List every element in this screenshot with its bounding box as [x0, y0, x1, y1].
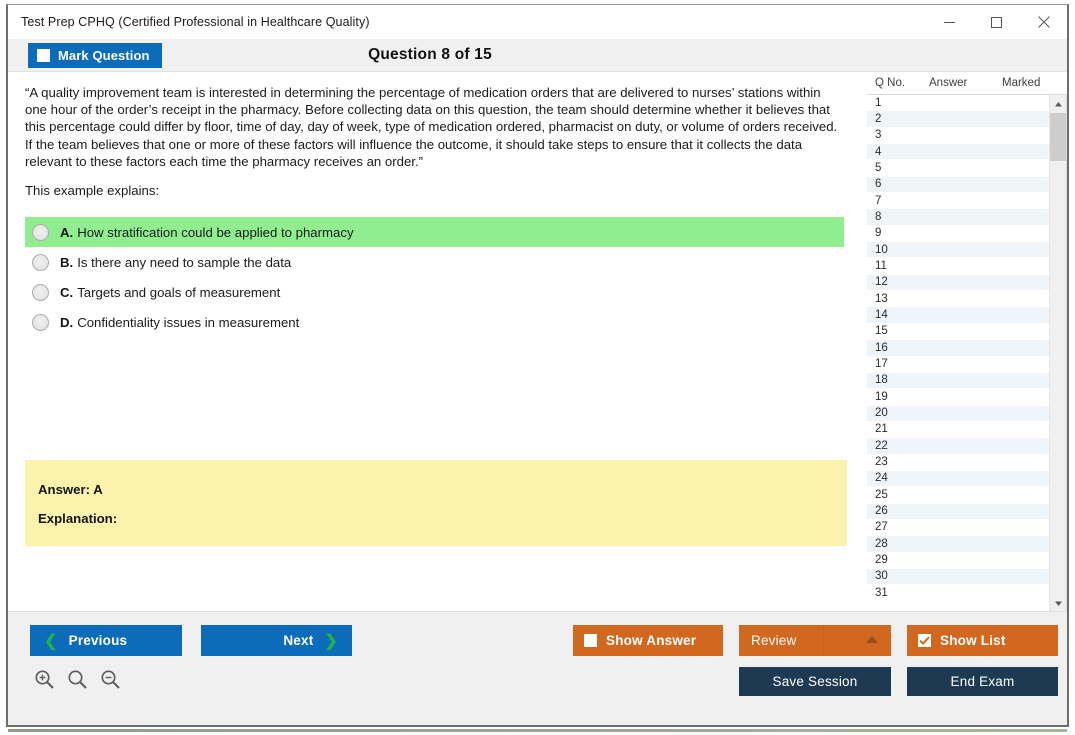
answer-option-c[interactable]: C.Targets and goals of measurement: [25, 277, 844, 307]
question-list-row-number: 13: [875, 293, 888, 305]
scrollbar-down-button[interactable]: [1050, 594, 1067, 611]
question-list-row[interactable]: 9: [867, 226, 1050, 242]
question-list-row[interactable]: 5: [867, 160, 1050, 176]
question-list-row-number: 30: [875, 570, 888, 582]
next-button[interactable]: Next ❯: [201, 625, 352, 656]
question-list-row[interactable]: 21: [867, 422, 1050, 438]
question-list-row-number: 22: [875, 440, 888, 452]
toolbar: Mark Question Question 8 of 15: [8, 39, 1067, 72]
question-list-row-number: 21: [875, 423, 888, 435]
option-letter: C.: [60, 285, 73, 300]
question-list-row-number: 14: [875, 309, 888, 321]
review-label: Review: [751, 633, 796, 648]
close-icon: [1037, 15, 1051, 29]
question-list-row[interactable]: 2: [867, 111, 1050, 127]
zoom-out-button[interactable]: [98, 667, 122, 691]
show-answer-checkbox[interactable]: [584, 634, 597, 647]
question-list-header: Q No. Answer Marked: [867, 72, 1067, 95]
end-exam-button[interactable]: End Exam: [907, 667, 1058, 696]
maximize-icon: [990, 16, 1003, 29]
question-list-row-number: 25: [875, 489, 888, 501]
question-list-row-number: 5: [875, 162, 881, 174]
scrollbar-thumb[interactable]: [1050, 113, 1067, 161]
question-list-row-number: 4: [875, 146, 881, 158]
question-list-row-number: 12: [875, 276, 888, 288]
question-list-row[interactable]: 3: [867, 128, 1050, 144]
option-text: How stratification could be applied to p…: [77, 225, 353, 240]
answer-label: Answer: A: [38, 482, 103, 497]
next-label: Next: [283, 633, 313, 648]
question-list-row[interactable]: 6: [867, 177, 1050, 193]
question-list-row[interactable]: 19: [867, 389, 1050, 405]
question-list-row-number: 27: [875, 521, 888, 533]
question-list-row[interactable]: 20: [867, 406, 1050, 422]
window-bottom-accent: [8, 729, 1067, 732]
option-text: Is there any need to sample the data: [77, 255, 291, 270]
option-text: Targets and goals of measurement: [77, 285, 280, 300]
question-list-row[interactable]: 27: [867, 520, 1050, 536]
answer-option-a[interactable]: A.How stratification could be applied to…: [25, 217, 844, 247]
question-list-row[interactable]: 31: [867, 585, 1050, 601]
question-list-row[interactable]: 24: [867, 471, 1050, 487]
option-letter: D.: [60, 315, 73, 330]
zoom-in-button[interactable]: [32, 667, 56, 691]
answer-options-list: A.How stratification could be applied to…: [8, 217, 858, 337]
question-list-row-number: 16: [875, 342, 888, 354]
option-letter: A.: [60, 225, 73, 240]
question-list-row-number: 7: [875, 195, 881, 207]
previous-button[interactable]: ❮ Previous: [30, 625, 182, 656]
review-dropdown[interactable]: Review: [739, 625, 891, 656]
question-list-row-number: 23: [875, 456, 888, 468]
question-list-row-number: 10: [875, 244, 888, 256]
maximize-button[interactable]: [973, 5, 1020, 39]
minimize-button[interactable]: [926, 5, 973, 39]
window-controls: [926, 5, 1067, 39]
column-header-marked: Marked: [1002, 77, 1040, 89]
window-title: Test Prep CPHQ (Certified Professional i…: [8, 15, 370, 29]
question-list-row[interactable]: 12: [867, 275, 1050, 291]
answer-explanation-panel: Answer: A Explanation:: [25, 460, 847, 546]
question-list-scrollbar[interactable]: [1049, 95, 1066, 611]
chevron-up-icon: [1054, 95, 1063, 113]
question-list-row[interactable]: 10: [867, 242, 1050, 258]
show-answer-button[interactable]: Show Answer: [573, 625, 723, 656]
option-text: Confidentiality issues in measurement: [77, 315, 299, 330]
question-list-row[interactable]: 15: [867, 324, 1050, 340]
question-list-pane: Q No. Answer Marked 12345678910111213141…: [867, 72, 1067, 611]
zoom-reset-button[interactable]: [65, 667, 89, 691]
question-list-row-number: 3: [875, 129, 881, 141]
review-divider: [823, 625, 824, 656]
question-list-row[interactable]: 14: [867, 307, 1050, 323]
question-list-row[interactable]: 26: [867, 504, 1050, 520]
previous-label: Previous: [69, 633, 128, 648]
question-list-row-number: 15: [875, 325, 888, 337]
exam-window: Test Prep CPHQ (Certified Professional i…: [6, 4, 1069, 727]
question-list-row-number: 11: [875, 260, 887, 272]
chevron-up-icon[interactable]: [866, 636, 878, 643]
question-list-row[interactable]: 4: [867, 144, 1050, 160]
question-list-row[interactable]: 18: [867, 373, 1050, 389]
question-list-row[interactable]: 28: [867, 536, 1050, 552]
question-list-row-number: 24: [875, 472, 888, 484]
title-bar: Test Prep CPHQ (Certified Professional i…: [8, 5, 1067, 39]
zoom-controls: [32, 667, 122, 691]
question-list-scroll-area[interactable]: 1234567891011121314151617181920212223242…: [867, 95, 1067, 611]
zoom-reset-icon: [67, 669, 88, 690]
question-list-row-number: 26: [875, 505, 888, 517]
show-list-label: Show List: [940, 633, 1006, 648]
question-lead-in: This example explains:: [25, 183, 842, 198]
main-content: “A quality improvement team is intereste…: [8, 72, 1067, 611]
close-button[interactable]: [1020, 5, 1067, 39]
question-list-row[interactable]: 29: [867, 553, 1050, 569]
question-list-row[interactable]: 30: [867, 569, 1050, 585]
question-list-row-number: 19: [875, 391, 888, 403]
show-list-checkbox[interactable]: [918, 634, 931, 647]
column-header-answer: Answer: [929, 77, 967, 89]
question-list-row-number: 8: [875, 211, 881, 223]
scrollbar-up-button[interactable]: [1050, 95, 1067, 112]
question-counter: Question 8 of 15: [8, 46, 1067, 64]
question-list-row[interactable]: 8: [867, 209, 1050, 225]
chevron-left-icon: ❮: [44, 631, 58, 651]
question-list-row-number: 29: [875, 554, 888, 566]
question-list-row[interactable]: 17: [867, 357, 1050, 373]
footer-toolbar: ❮ Previous Next ❯ Show Answer Review Sho…: [8, 611, 1067, 725]
option-letter: B.: [60, 255, 73, 270]
chevron-right-icon: ❯: [324, 631, 338, 651]
end-exam-label: End Exam: [951, 674, 1015, 689]
question-list-row-number: 31: [875, 587, 888, 599]
question-body-text: “A quality improvement team is intereste…: [25, 84, 842, 170]
zoom-in-icon: [34, 669, 55, 690]
explanation-label: Explanation:: [38, 511, 117, 526]
answer-option-d[interactable]: D.Confidentiality issues in measurement: [25, 307, 844, 337]
column-header-qno: Q No.: [875, 77, 905, 89]
save-session-button[interactable]: Save Session: [739, 667, 891, 696]
question-list-row[interactable]: 7: [867, 193, 1050, 209]
question-list-row-number: 17: [875, 358, 888, 370]
question-list-row-number: 6: [875, 178, 881, 190]
question-list-row[interactable]: 22: [867, 438, 1050, 454]
minimize-icon: [943, 16, 956, 29]
question-list-row-number: 28: [875, 538, 888, 550]
question-list-row-number: 2: [875, 113, 881, 125]
question-list-row-number: 20: [875, 407, 888, 419]
question-list-rows: 1234567891011121314151617181920212223242…: [867, 95, 1050, 602]
question-list-row[interactable]: 1: [867, 95, 1050, 111]
question-list-row-number: 9: [875, 227, 881, 239]
option-radio[interactable]: [32, 224, 49, 241]
question-list-row[interactable]: 11: [867, 258, 1050, 274]
question-list-row[interactable]: 25: [867, 487, 1050, 503]
question-list-row[interactable]: 16: [867, 340, 1050, 356]
show-answer-label: Show Answer: [606, 633, 696, 648]
question-list-row[interactable]: 13: [867, 291, 1050, 307]
question-pane: “A quality improvement team is intereste…: [8, 72, 858, 611]
chevron-down-icon: [1054, 594, 1063, 612]
question-list-row-number: 18: [875, 374, 888, 386]
answer-option-b[interactable]: B.Is there any need to sample the data: [25, 247, 844, 277]
option-radio[interactable]: [32, 314, 49, 331]
question-list-row-number: 1: [875, 97, 881, 109]
show-list-button[interactable]: Show List: [907, 625, 1058, 656]
zoom-out-icon: [100, 669, 121, 690]
save-session-label: Save Session: [773, 674, 858, 689]
question-list-row[interactable]: 23: [867, 455, 1050, 471]
option-radio[interactable]: [32, 254, 49, 271]
check-icon: [919, 636, 930, 645]
option-radio[interactable]: [32, 284, 49, 301]
